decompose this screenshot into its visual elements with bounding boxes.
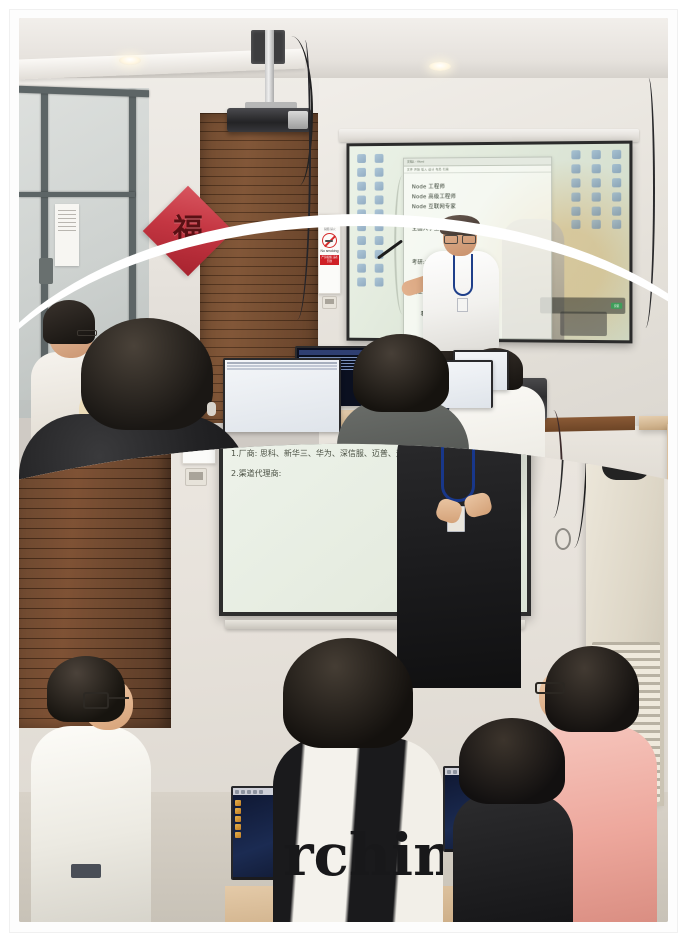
projected-notification: 安装 [540,297,625,314]
document-line: Node 高级工程师 [412,192,543,203]
desktop-icon[interactable] [566,178,584,190]
desktop-icon[interactable] [371,168,387,180]
desktop-icon[interactable] [587,206,605,218]
instructor [417,218,503,348]
glasses-icon [535,682,565,694]
student-hair [81,318,213,430]
desktop-icon[interactable] [587,220,605,232]
wall-outlet[interactable] [322,296,337,309]
desktop-icon[interactable] [371,209,387,221]
document-line: Node 互联网专家 [412,202,543,212]
desktop-icon[interactable] [607,220,625,232]
sign-subline: 禁烟 · 禁火 [319,227,340,231]
desktop-icon[interactable] [371,195,387,207]
door-handle[interactable] [39,258,53,284]
desktop-icon[interactable] [353,181,369,193]
desktop-icon[interactable] [607,192,625,204]
desktop-icon[interactable] [353,209,369,221]
desktop-icon[interactable] [566,164,584,176]
wall-outlet[interactable] [185,468,207,486]
desktop-icon[interactable] [353,236,369,248]
no-smoking-icon [322,233,337,248]
glasses-icon [83,692,129,705]
student-hair [283,638,413,748]
desktop-icon-column-left [353,154,386,289]
desktop-icon[interactable] [353,277,369,289]
ceiling-light [429,62,451,71]
desktop-icon[interactable] [607,178,625,190]
desktop-icon[interactable] [566,150,584,162]
install-button[interactable]: 安装 [611,303,622,309]
projector-mount-pipe [265,30,274,104]
student-torso [453,794,573,922]
desktop-icon[interactable] [607,150,625,162]
mullion-horizontal-mid [19,192,135,197]
desktop-icon[interactable] [587,192,605,204]
desktop-icon[interactable] [353,195,369,207]
desktop-icon[interactable] [607,206,625,218]
instructor-hair [440,215,480,235]
fu-character: 福 [173,216,203,246]
desktop-icon[interactable] [566,192,584,204]
photo-stack: 福 禁 禁烟 · 禁火 No smoking 严禁吸烟 违者罚款 [19,18,668,922]
collage-canvas: 福 禁 禁烟 · 禁火 No smoking 严禁吸烟 违者罚款 [0,0,687,942]
student [31,656,141,922]
sign-english: No smoking [319,249,340,253]
glasses-icon [444,235,476,242]
desktop-icon[interactable] [371,223,387,235]
no-smoking-sign: 禁 禁烟 · 禁火 No smoking 严禁吸烟 违者罚款 [318,214,341,294]
document-line: Node 工程师 [412,182,543,193]
desktop-icon[interactable] [587,164,605,176]
student-hair [459,718,565,804]
cable-loop [555,528,571,550]
student: rchin [273,638,443,922]
id-badge [457,298,468,312]
desktop-icon[interactable] [371,154,387,166]
student-hair [353,334,449,412]
desk [639,416,668,430]
desktop-icon-column-right [566,150,625,232]
desktop-icon[interactable] [371,264,387,276]
student [453,718,573,922]
earphone [207,402,216,416]
posted-notice [55,204,79,266]
ceiling-light [119,56,141,65]
projected-laptop [560,311,607,336]
screen-dock [235,800,241,838]
desktop-icon[interactable] [353,250,369,262]
sign-headline: 禁 [319,217,340,226]
lanyard [453,254,473,296]
desktop-icon[interactable] [371,181,387,193]
fu-stamp [168,244,175,251]
desktop-icon[interactable] [607,164,625,176]
desktop-icon[interactable] [353,264,369,276]
sign-red-banner: 严禁吸烟 违者罚款 [320,255,339,265]
desktop-icon[interactable] [353,223,369,235]
student-torso [31,726,151,922]
desktop-icon[interactable] [566,206,584,218]
desktop-icon[interactable] [371,236,387,248]
desktop-icon[interactable] [587,150,605,162]
desktop-icon[interactable] [371,277,387,289]
student-hair [47,656,125,722]
shirt-logo [71,864,101,878]
desktop-icon[interactable] [587,178,605,190]
desktop-icon[interactable] [353,154,369,166]
shirt-text: rchin [283,826,443,884]
desktop-icon[interactable] [566,220,584,232]
desktop-icon[interactable] [353,168,369,180]
